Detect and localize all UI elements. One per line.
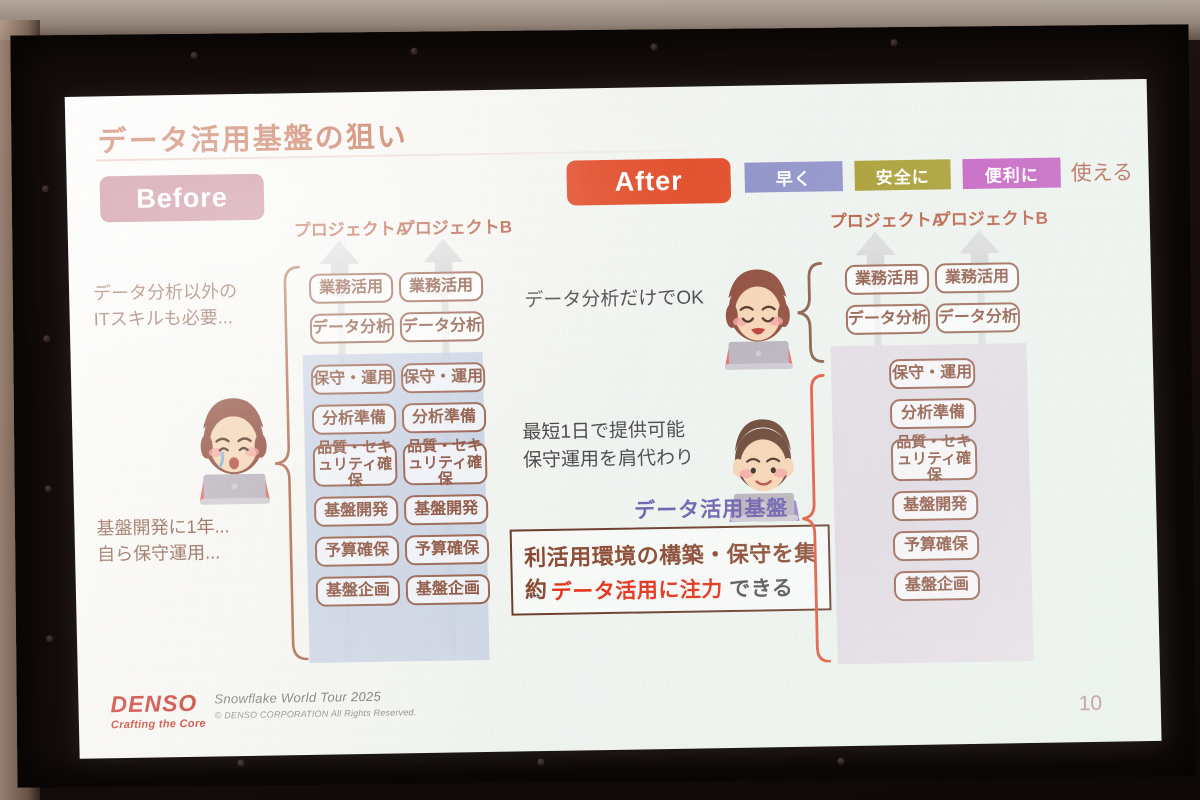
chip-after-a-0: 業務活用 <box>845 264 930 295</box>
chip-before-a-4: 品質・セキュリティ確保 <box>313 443 398 486</box>
denso-wordmark: DENSO <box>110 690 206 719</box>
chip-before-b-2: 保守・運用 <box>401 362 486 393</box>
after-caption-mid: 最短1日で提供可能 保守運用を肩代わり <box>522 417 694 475</box>
footer-copyright: © DENSO CORPORATION All Rights Reserved. <box>215 707 417 720</box>
chip-after-b-1: データ分析 <box>936 302 1021 333</box>
after-brace-platform <box>797 372 834 662</box>
before-col-b-header: プロジェクトB <box>397 213 512 240</box>
sad-woman-laptop-icon <box>181 393 286 507</box>
chip-before-a-5: 基盤開発 <box>314 495 399 526</box>
chip-platform-4: 予算確保 <box>893 530 980 561</box>
chip-before-b-5: 基盤開発 <box>404 494 489 525</box>
chip-platform-5: 基盤企画 <box>894 570 981 601</box>
page-number: 10 <box>1078 692 1102 716</box>
after-col-b-header: プロジェクトB <box>933 204 1048 231</box>
chip-before-a-0: 業務活用 <box>309 273 394 304</box>
tag-benri: 便利に <box>962 157 1061 189</box>
before-col-a-header: プロジェクトA <box>293 214 408 241</box>
platform-label: データ活用基盤 <box>634 492 789 525</box>
chip-platform-2: 品質・セキュリティ確保 <box>891 438 978 481</box>
chip-before-a-3: 分析準備 <box>312 404 397 435</box>
tags-suffix-label: 使える <box>1070 156 1133 187</box>
page-title: データ活用基盤の狙い <box>97 113 408 160</box>
happy-woman-laptop-icon <box>709 265 807 371</box>
chip-after-b-0: 業務活用 <box>935 262 1020 293</box>
callout-line-2: → データ活用に注力 できる <box>523 572 794 606</box>
key-message-callout: 利活用環境の構築・保守を集約 → データ活用に注力 できる <box>510 524 832 615</box>
footer-event: Snowflake World Tour 2025 <box>214 689 381 707</box>
chip-before-b-6: 予算確保 <box>405 534 490 565</box>
chip-before-a-2: 保守・運用 <box>311 364 396 395</box>
badge-after: After <box>566 158 731 206</box>
chip-before-b-4: 品質・セキュリティ確保 <box>403 442 488 485</box>
chip-before-a-7: 基盤企画 <box>316 575 401 606</box>
callout-arrow: → <box>523 581 545 604</box>
chip-before-b-0: 業務活用 <box>399 271 484 302</box>
chip-before-b-3: 分析準備 <box>402 402 487 433</box>
tag-anzen: 安全に <box>854 159 951 191</box>
after-caption-top: データ分析だけでOK <box>524 284 704 315</box>
chip-before-b-1: データ分析 <box>400 311 485 342</box>
after-brace-top <box>795 260 827 364</box>
chip-after-a-1: データ分析 <box>846 304 931 335</box>
chip-platform-3: 基盤開発 <box>892 490 979 521</box>
before-caption-top: データ分析以外の ITスキルも必要... <box>93 279 238 332</box>
screen-frame: データ活用基盤の狙い Before After 早く 安全に 便利に 使える デ… <box>10 24 1195 787</box>
denso-logo: DENSO Crafting the Core <box>110 690 206 732</box>
chip-before-a-1: データ分析 <box>310 313 395 344</box>
denso-tagline: Crafting the Core <box>111 718 206 732</box>
chip-before-a-6: 予算確保 <box>315 535 400 566</box>
slide-canvas: データ活用基盤の狙い Before After 早く 安全に 便利に 使える デ… <box>65 79 1162 759</box>
chip-platform-0: 保守・運用 <box>889 358 976 389</box>
before-caption-bottom: 基盤開発に1年... 自ら保守運用... <box>96 514 230 567</box>
chip-before-b-7: 基盤企画 <box>406 574 491 605</box>
tag-hayaku: 早く <box>744 161 843 193</box>
callout-tail: できる <box>729 577 794 601</box>
badge-before: Before <box>99 174 264 223</box>
after-col-a-header: プロジェクトA <box>829 205 944 232</box>
chip-platform-1: 分析準備 <box>890 398 977 429</box>
projection-photo: データ活用基盤の狙い Before After 早く 安全に 便利に 使える デ… <box>0 0 1200 800</box>
callout-highlight: データ活用に注力 <box>551 578 724 604</box>
